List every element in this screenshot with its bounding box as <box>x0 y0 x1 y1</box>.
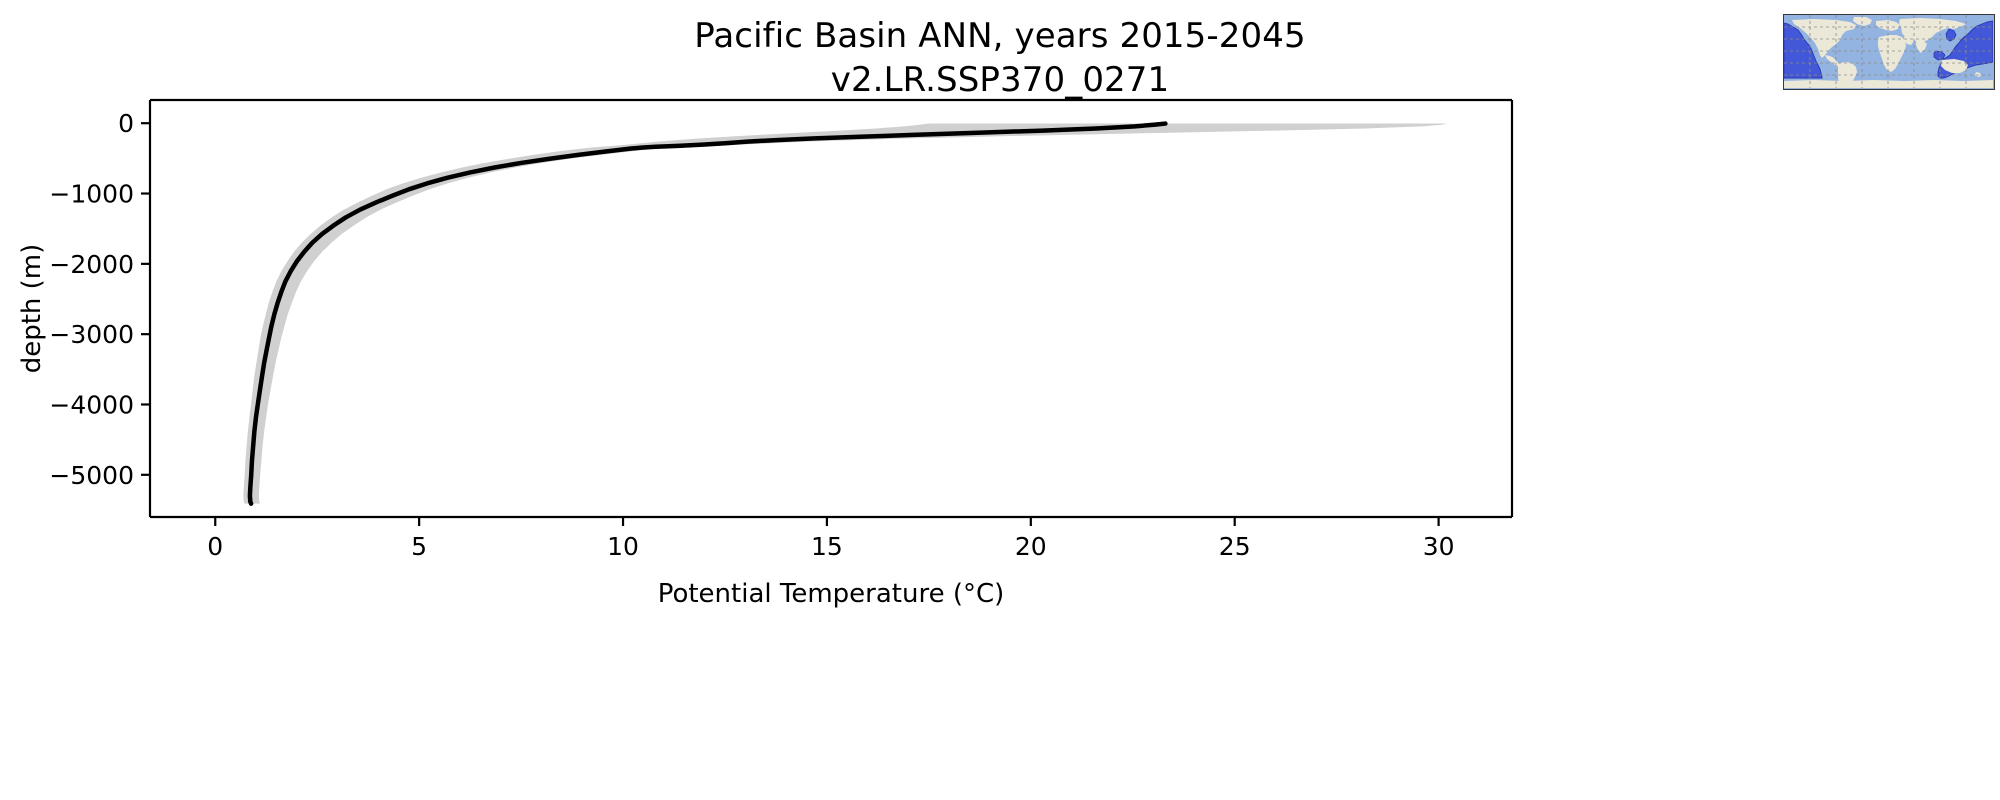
xtick-label: 30 <box>1423 532 1455 561</box>
xtick-label: 0 <box>207 532 223 561</box>
xtick-label: 25 <box>1219 532 1251 561</box>
figure-canvas: Pacific Basin ANN, years 2015-2045 v2.LR… <box>0 0 2000 800</box>
ytick-label: −2000 <box>49 250 134 279</box>
ytick-label: −5000 <box>49 461 134 490</box>
ytick-label: −3000 <box>49 320 134 349</box>
locator-map-svg <box>1784 15 1993 88</box>
ytick-label: −4000 <box>49 390 134 419</box>
ytick-label: −1000 <box>49 180 134 209</box>
x-axis-label: Potential Temperature (°C) <box>658 579 1005 609</box>
land-antarctica <box>1784 80 1993 88</box>
y-axis-label: depth (m) <box>17 244 47 374</box>
xtick-label: 15 <box>811 532 843 561</box>
xtick-label: 10 <box>607 532 639 561</box>
ytick-label: 0 <box>118 109 134 138</box>
pacific-basin-locator-map <box>1783 14 1995 90</box>
plot-background <box>150 100 1512 517</box>
depth-profile-plot: 0510152025300−1000−2000−3000−4000−5000Po… <box>0 0 2000 800</box>
xtick-label: 20 <box>1015 532 1047 561</box>
xtick-label: 5 <box>411 532 427 561</box>
